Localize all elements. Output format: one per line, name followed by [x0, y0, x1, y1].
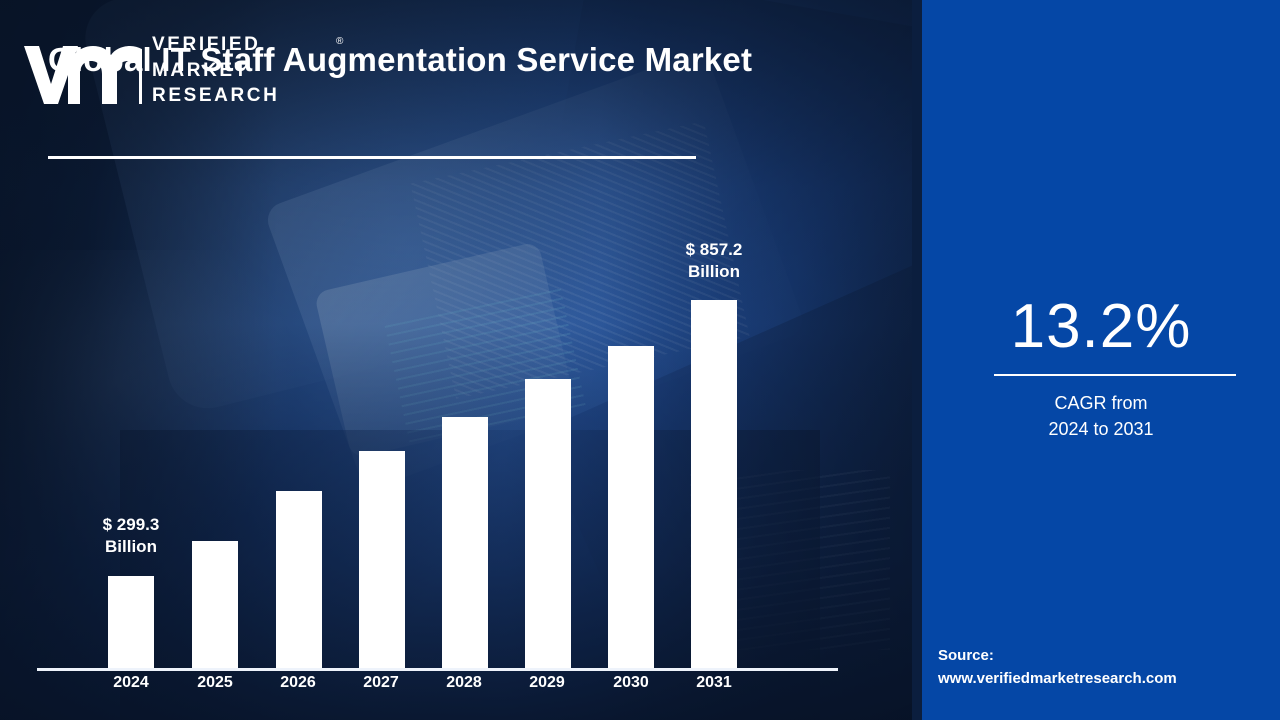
- bar-2028: [442, 417, 488, 668]
- brand-line-1: VERIFIED: [152, 32, 279, 58]
- source-block: Source: www.verifiedmarketresearch.com: [938, 645, 1278, 690]
- bar-value-label-2024: $ 299.3 Billion: [56, 514, 206, 559]
- brand-wordmark: VERIFIED MARKET RESEARCH: [152, 32, 279, 109]
- cagr-caption: CAGR from 2024 to 2031: [922, 390, 1280, 442]
- x-tick-2025: 2025: [180, 674, 250, 692]
- cagr-value: 13.2%: [922, 296, 1280, 358]
- brand-line-2: MARKET: [152, 58, 279, 84]
- x-tick-2031: 2031: [679, 674, 749, 692]
- vmr-logo-icon: [20, 34, 142, 110]
- infographic-canvas: Global IT Staff Augmentation Service Mar…: [0, 0, 1280, 720]
- x-tick-2026: 2026: [263, 674, 333, 692]
- x-axis-line: [37, 668, 838, 671]
- bar-2025: [192, 541, 238, 668]
- brand-line-3: RESEARCH: [152, 83, 279, 109]
- brand-logo[interactable]: VERIFIED MARKET RESEARCH ®: [20, 28, 340, 120]
- registered-trademark-icon: ®: [336, 36, 343, 47]
- x-tick-2028: 2028: [429, 674, 499, 692]
- cagr-divider: [994, 374, 1236, 376]
- bar-2026: [276, 491, 322, 668]
- bar-2031: [691, 300, 737, 668]
- bar-value-label-2031: $ 857.2 Billion: [639, 239, 789, 284]
- bar-2030: [608, 346, 654, 668]
- x-tick-2024: 2024: [96, 674, 166, 692]
- x-tick-2030: 2030: [596, 674, 666, 692]
- source-label: Source:: [938, 645, 1278, 668]
- bar-2024: [108, 576, 154, 668]
- bar-2029: [525, 379, 571, 668]
- bar-2027: [359, 451, 405, 668]
- source-url[interactable]: www.verifiedmarketresearch.com: [938, 668, 1278, 691]
- x-tick-2027: 2027: [346, 674, 416, 692]
- x-tick-2029: 2029: [512, 674, 582, 692]
